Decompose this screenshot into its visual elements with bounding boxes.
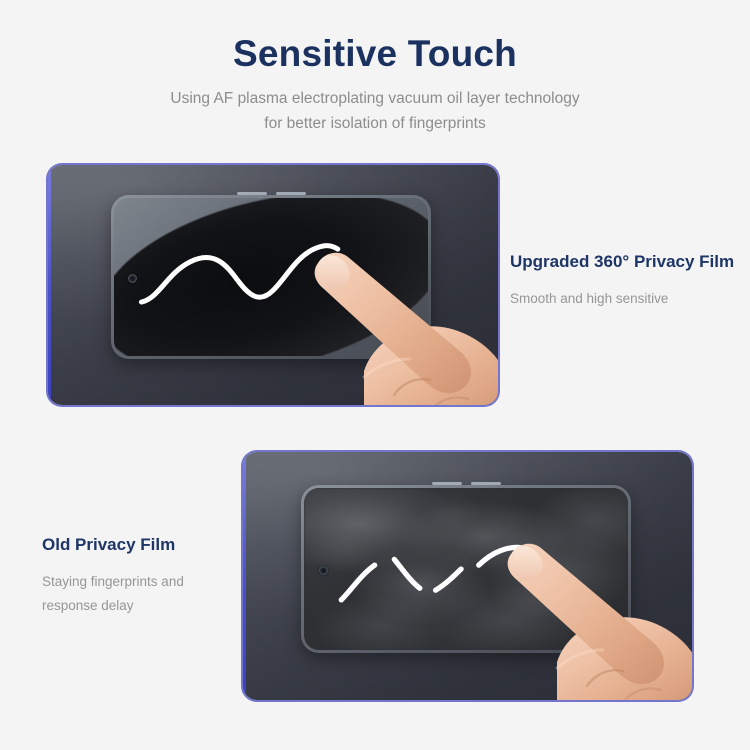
phone-device-smudged bbox=[301, 485, 631, 653]
smooth-wave-line-icon bbox=[114, 198, 428, 356]
phone-screen-clean bbox=[114, 198, 428, 356]
panel-accent-rim bbox=[48, 165, 51, 405]
old-film-panel bbox=[243, 452, 692, 700]
phone-side-buttons bbox=[207, 192, 335, 196]
subtitle-line-2: for better isolation of fingerprints bbox=[0, 111, 750, 136]
product-feature-page: Sensitive Touch Using AF plasma electrop… bbox=[0, 0, 750, 750]
upgraded-film-panel bbox=[48, 165, 498, 405]
caption-old-film: Old Privacy Film Staying fingerprints an… bbox=[42, 533, 237, 618]
subtitle-line-1: Using AF plasma electroplating vacuum oi… bbox=[0, 86, 750, 111]
caption-old-subtitle: Staying fingerprints and response delay bbox=[42, 570, 237, 618]
phone-device-clean bbox=[111, 195, 431, 359]
broken-wave-line-icon bbox=[304, 488, 628, 650]
panel-accent-rim bbox=[243, 452, 246, 700]
caption-old-title: Old Privacy Film bbox=[42, 533, 237, 557]
page-subtitle: Using AF plasma electroplating vacuum oi… bbox=[0, 86, 750, 136]
phone-screen-smudged bbox=[304, 488, 628, 650]
phone-side-buttons bbox=[400, 482, 532, 486]
caption-old-subtitle-line-1: Staying fingerprints and bbox=[42, 570, 237, 594]
camera-punch-hole-icon bbox=[128, 274, 137, 283]
page-title: Sensitive Touch bbox=[0, 32, 750, 76]
caption-upgraded-title: Upgraded 360° Privacy Film bbox=[510, 250, 745, 274]
caption-upgraded-film: Upgraded 360° Privacy Film Smooth and hi… bbox=[510, 250, 745, 311]
header: Sensitive Touch Using AF plasma electrop… bbox=[0, 32, 750, 136]
camera-punch-hole-icon bbox=[319, 566, 328, 575]
caption-old-subtitle-line-2: response delay bbox=[42, 594, 237, 618]
caption-upgraded-subtitle: Smooth and high sensitive bbox=[510, 287, 745, 311]
